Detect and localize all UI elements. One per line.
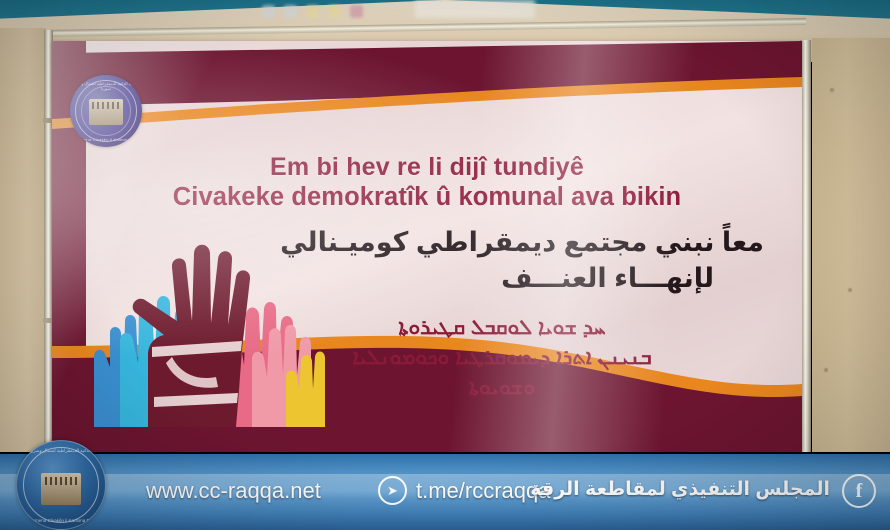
wall-right	[812, 38, 890, 452]
footer-website[interactable]: www.cc-raqqa.net	[146, 478, 321, 504]
blurred-icon-2	[284, 5, 297, 18]
blurred-icon-3	[306, 5, 319, 18]
banner-syriac-line2: ܒܢܝܢܢ ܐܬܪܐ ܕܝܡܘܩܪܛܝܐ ܘܟܘܡܘܢܠܝܐ	[272, 343, 732, 373]
emblem-top-text: الإدارة الذاتية الديمقراطية لشمال وشرق س…	[70, 81, 142, 91]
emblem-building-icon	[89, 99, 123, 125]
footer-telegram[interactable]: ➤ t.me/rccraqqa	[378, 476, 551, 505]
wall-left	[0, 28, 46, 452]
blurred-icon-1	[262, 5, 275, 18]
banner-arabic-line2: لإنهـــاء العنـــف	[294, 263, 714, 294]
banner-top-orange-swoosh	[52, 71, 802, 131]
banner-headline-line1: Em bi hev re li dijî tundiyê	[52, 153, 802, 182]
blurred-icon-4	[328, 5, 341, 18]
emblem-bottom-text: Encumena Cîvakên li Kantona Reqa	[70, 137, 142, 142]
facebook-icon[interactable]: f	[842, 474, 876, 508]
banner-emblem: الإدارة الذاتية الديمقراطية لشمال وشرق س…	[70, 75, 142, 147]
footer-emblem-building-icon	[41, 473, 81, 505]
telegram-icon: ➤	[378, 476, 407, 505]
banner-syriac-text: ܚܕ ܫܘܝܐ ܠܘܩܒܠ ܩܛܝܪܘܬܐ ܒܢܝܢܢ ܐܬܪܐ ܕܝܡܘܩܪܛ…	[272, 313, 732, 402]
banner-syriac-line3: ܘܫܘܝܘܬܐ	[272, 373, 732, 403]
event-banner: الإدارة الذاتية الديمقراطية لشمال وشرق س…	[52, 41, 802, 452]
screenshot-root: الإدارة الذاتية الديمقراطية لشمال وشرق س…	[0, 0, 890, 530]
footer-emblem-top-text: الإدارة الذاتية الديمقراطية لشمال وشرق س…	[17, 448, 105, 454]
top-blurred-icons	[262, 0, 467, 22]
banner-headline-line2: Civakeke demokratîk û komunal ava bikin	[52, 183, 802, 212]
banner-arabic-line1: معاً نبني مجتمع ديمقراطي كوميـنالي	[204, 227, 764, 258]
footer-organization-name: المجلس التنفيذي لمقاطعة الرقة	[530, 478, 830, 501]
footer-emblem-bottom-text: Encumena Cîvakên li Kantona Reqa	[17, 518, 105, 523]
footer-emblem: الإدارة الذاتية الديمقراطية لشمال وشرق س…	[16, 440, 106, 530]
blurred-icon-5	[350, 5, 363, 18]
banner-syriac-line1: ܚܕ ܫܘܝܐ ܠܘܩܒܠ ܩܛܝܪܘܬܐ	[272, 313, 732, 343]
